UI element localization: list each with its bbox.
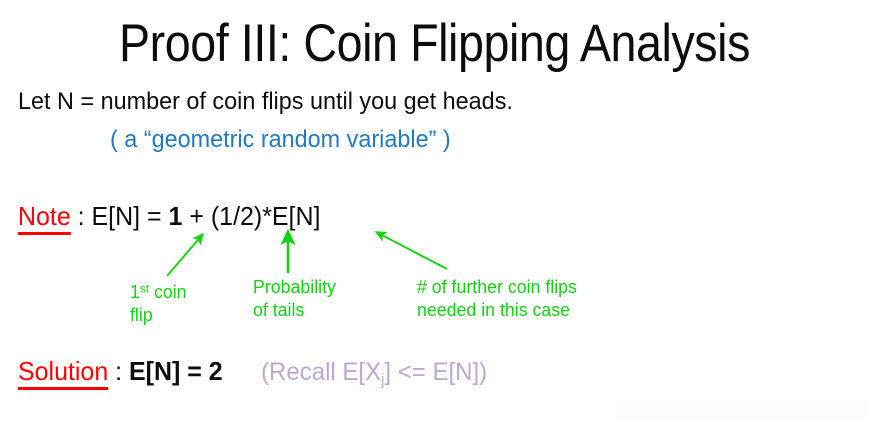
arrow-to-expectation — [376, 232, 447, 269]
annotation-probability-of-tails: Probability of tails — [253, 275, 336, 321]
solution-recall-note: (Recall E[Xj] <= E[N]) — [261, 358, 487, 386]
definition-line: Let N = number of coin flips until you g… — [18, 88, 513, 116]
note-equation-prefix: E[N] = — [92, 201, 169, 231]
annotation-2-line2: of tails — [253, 299, 304, 320]
annotation-3-line1: # of further coin flips — [417, 276, 577, 297]
annotation-further-coin-flips: # of further coin flips needed in this c… — [417, 275, 577, 321]
solution-keyword: Solution — [18, 356, 108, 390]
note-line: Note : E[N] = 1 + (1/2)*E[N] — [18, 202, 320, 232]
annotation-2-line1: Probability — [253, 276, 336, 297]
note-separator: : — [71, 201, 92, 231]
annotation-first-coin-flip: 1st coin flip — [130, 278, 187, 326]
annotation-1-ordinal-suffix: st — [140, 282, 149, 296]
recall-close: ] <= E[N]) — [384, 358, 487, 386]
note-term-probability: (1/2)*E[N] — [211, 201, 321, 231]
solution-line: Solution : E[N] = 2(Recall E[Xj] <= E[N]… — [18, 357, 487, 389]
solution-equation: E[N] = 2 — [129, 356, 223, 386]
annotation-3-line2: needed in this case — [417, 299, 570, 320]
recall-open: (Recall E[X — [261, 358, 381, 386]
annotation-1-line2: flip — [130, 304, 153, 325]
note-keyword: Note — [18, 201, 71, 235]
arrow-to-term-one — [167, 234, 203, 276]
annotation-1-line1: 1st coin — [130, 281, 187, 302]
annotation-1-ordinal: 1 — [130, 281, 140, 302]
solution-separator: : — [108, 356, 129, 386]
subtitle-line: ( a “geometric random variable” ) — [110, 126, 451, 154]
note-term-one: 1 — [169, 201, 183, 231]
faint-bottom-band — [616, 400, 869, 417]
slide-canvas: Proof III: Coin Flipping Analysis Let N … — [0, 0, 869, 423]
annotation-1-line1-text: coin — [149, 281, 187, 302]
slide-title: Proof III: Coin Flipping Analysis — [52, 14, 817, 74]
note-operator: + — [182, 201, 210, 231]
